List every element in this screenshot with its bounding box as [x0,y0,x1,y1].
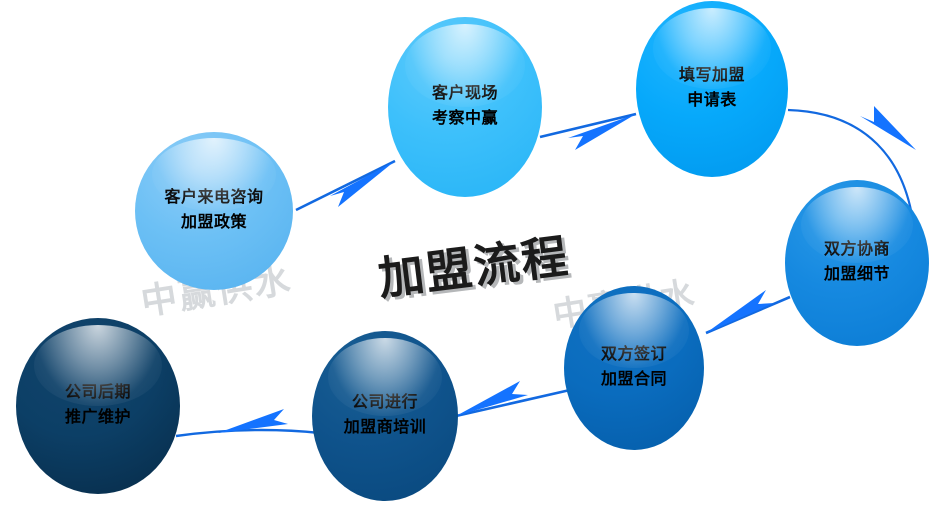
flow-node-1-line1: 客户来电咨询 [164,186,263,211]
flow-node-5-line2: 加盟合同 [601,368,667,393]
flow-node-3-line2: 申请表 [687,89,737,114]
flowchart-canvas: 中赢供水 中赢供水 [0,0,944,517]
flow-node-5[interactable]: 双方签订加盟合同 [564,286,704,450]
flow-node-1[interactable]: 客户来电咨询加盟政策 [135,132,293,290]
flow-node-3[interactable]: 填写加盟申请表 [636,1,788,177]
connector-2-3 [540,114,636,150]
flow-node-6-line1: 公司进行 [352,391,418,416]
flow-node-6[interactable]: 公司进行加盟商培训 [312,331,458,501]
connector-5-6 [456,381,570,416]
flow-node-7-line1: 公司后期 [65,381,131,406]
flow-node-4[interactable]: 双方协商加盟细节 [785,180,929,346]
flow-node-4-line2: 加盟细节 [824,263,890,288]
page-title: 加盟流程 [374,220,573,309]
flow-node-2-line2: 考察中赢 [432,107,498,132]
flow-node-7[interactable]: 公司后期推广维护 [16,318,180,494]
flow-node-2-line1: 客户现场 [432,82,498,107]
flow-node-1-line2: 加盟政策 [181,211,247,236]
flow-node-7-line2: 推广维护 [65,406,131,431]
flow-node-5-line1: 双方签订 [601,343,667,368]
flow-node-2[interactable]: 客户现场考察中赢 [388,17,542,197]
connector-1-2 [296,161,395,210]
flow-node-6-line2: 加盟商培训 [344,416,427,441]
connector-4-5 [706,290,790,333]
flow-node-4-line1: 双方协商 [824,238,890,263]
flow-node-3-line1: 填写加盟 [679,64,745,89]
connector-6-7 [176,409,320,436]
